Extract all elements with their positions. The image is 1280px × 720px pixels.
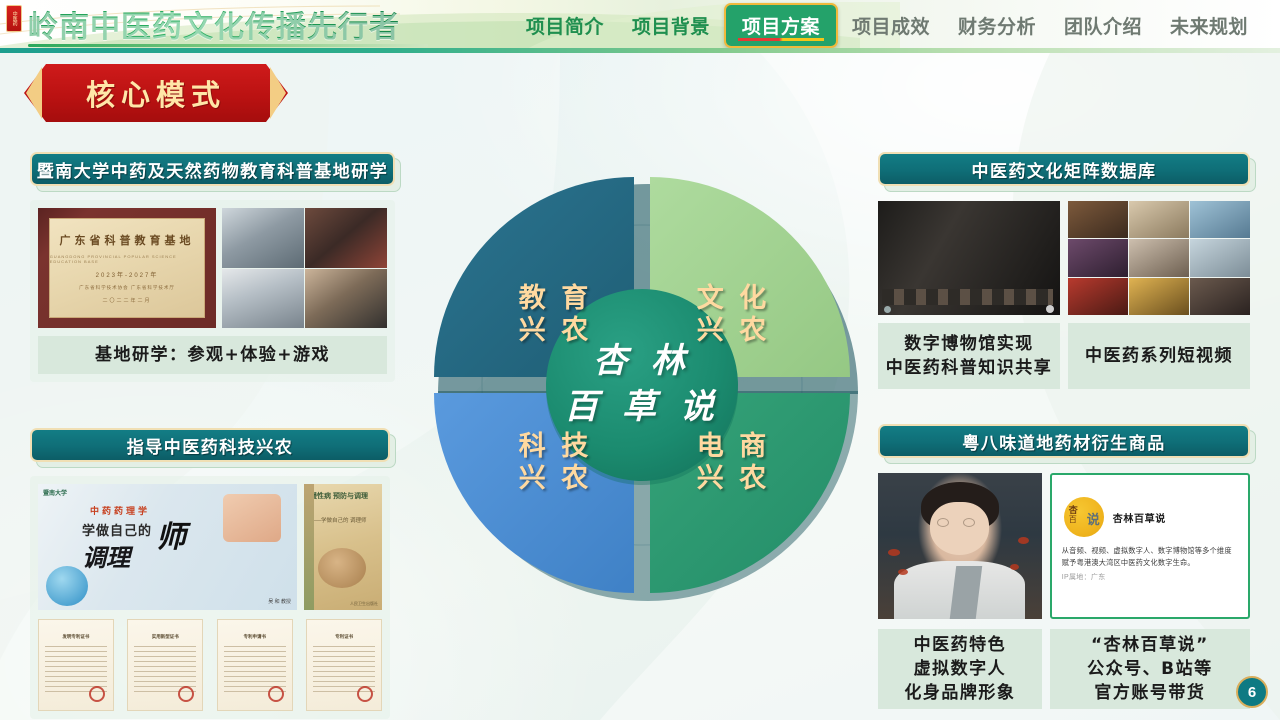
core-model-diagram: 教 育 兴 农 文 化 兴 农 科 技 兴 农 电 商 兴 农 杏 林 百 草 … <box>420 163 864 607</box>
panel-title-matrix-db: 中医药文化矩阵数据库 <box>972 157 1157 182</box>
page-number-badge: 6 <box>1236 676 1268 708</box>
video-thumb-3 <box>1190 201 1250 238</box>
certificate-4: 专利证书 <box>306 619 382 711</box>
museum-display-wall <box>882 211 995 293</box>
photo-activity-4 <box>305 269 387 329</box>
nav-item-future-plan[interactable]: 未来规划 <box>1156 6 1262 45</box>
video-thumb-9 <box>1190 278 1250 315</box>
course-line1-label: 学做自己的 <box>82 520 152 539</box>
video-thumb-6 <box>1190 239 1250 276</box>
panel-guide-tcm-agriculture: 指导中医药科技兴农 暨南大学 中药药理学 学做自己的 调理 师 吴 和 教授 慢… <box>30 428 390 719</box>
avatar-face <box>930 502 989 555</box>
brand-title: 岭南中医药文化传播先行者 <box>28 2 400 46</box>
plaque-line3: 2023年-2027年 <box>96 270 159 279</box>
yuebawei-column-account: 杏 百 说 杏林百草说 从音频、视频、虚拟数字人、数字博物馆等多个维度赋予粤港澳… <box>1050 473 1250 709</box>
caption-official-accounts: “杏林百草说” 公众号、B站等 官方账号带货 <box>1050 629 1250 709</box>
plaque-line1: 广东省科普教育基地 <box>60 232 195 248</box>
video-thumb-5 <box>1129 239 1189 276</box>
certificate-2-title: 实用新型证书 <box>134 634 196 640</box>
nav-item-financial-analysis[interactable]: 财务分析 <box>944 6 1050 45</box>
book-spine <box>304 484 314 610</box>
certificate-2: 实用新型证书 <box>127 619 203 711</box>
course-decor-sphere-icon <box>46 566 88 606</box>
caption-virtual-human: 中医药特色 虚拟数字人 化身品牌形象 <box>878 629 1042 709</box>
panel-header-plate: 指导中医药科技兴农 <box>30 428 390 462</box>
nav-item-project-intro[interactable]: 项目简介 <box>512 6 618 45</box>
certificate-row: 发明专利证书 实用新型证书 专利申请书 专利证书 <box>38 619 382 711</box>
certificate-1-title: 发明专利证书 <box>45 634 107 640</box>
wechat-card-header: 杏 百 说 杏林百草说 <box>1064 497 1238 537</box>
certificate-1-seal-icon <box>89 686 105 702</box>
video-thumb-8 <box>1129 278 1189 315</box>
museum-control-icon <box>884 306 891 313</box>
photo-digital-museum <box>878 201 1060 315</box>
plaque-line5: 二〇二二年二月 <box>102 297 151 304</box>
book-illustration-icon <box>318 548 366 588</box>
photo-activity-2 <box>305 208 387 268</box>
caption-base-study: 基地研学：参观+体验+游戏 <box>38 336 387 374</box>
photo-grid-base-activities <box>222 208 387 328</box>
book-title-label: 慢性病 预防与调理 <box>310 492 376 502</box>
course-family-photo <box>223 494 281 542</box>
diagram-center-circle <box>546 289 738 481</box>
photo-virtual-human-avatar <box>878 473 1042 619</box>
certificate-3-title: 专利申请书 <box>224 634 286 640</box>
panel-header-agriculture: 指导中医药科技兴农 <box>30 428 390 462</box>
plaque-inner: 广东省科普教育基地 GUANGDONG PROVINCIAL POPULAR S… <box>49 218 206 319</box>
museum-fullscreen-icon <box>1046 305 1054 313</box>
video-thumb-4 <box>1068 239 1128 276</box>
panel-body-matrix-db: 数字博物馆实现 中医药科普知识共享 中医药系列短视频 <box>878 201 1250 389</box>
wechat-account-name: 杏林百草说 <box>1113 510 1166 525</box>
video-thumb-7 <box>1068 278 1128 315</box>
panel-title-agriculture: 指导中医药科技兴农 <box>127 433 294 458</box>
book-publisher-label: 人民卫生出版社 <box>350 601 378 607</box>
brand-underline <box>28 44 428 47</box>
wechat-account-description: 从音频、视频、虚拟数字人、数字博物馆等多个维度赋予粤港澳大湾区中医药文化数字生命… <box>1062 545 1238 568</box>
avatar-leaf-1 <box>888 549 900 556</box>
page-title: 核心模式 <box>24 64 288 122</box>
nav-item-project-plan[interactable]: 项目方案 <box>724 3 838 48</box>
panel-header-jinan: 暨南大学中药及天然药物教育科普基地研学 <box>30 152 395 186</box>
panel-body-agriculture: 暨南大学 中药药理学 学做自己的 调理 师 吴 和 教授 慢性病 预防与调理 —… <box>30 476 390 719</box>
panel-header-plate: 粤八味道地药材衍生商品 <box>878 424 1250 458</box>
panel-yuebawei-products: 粤八味道地药材衍生商品 中医药特色 虚拟数字人 化身品牌形象 <box>878 424 1250 709</box>
photo-activity-1 <box>222 208 304 268</box>
certificate-2-seal-icon <box>178 686 194 702</box>
wechat-ip-location: IP属地：广东 <box>1062 572 1238 582</box>
brand-seal-icon: 中医药 <box>6 5 22 32</box>
panel-header-yuebawei: 粤八味道地药材衍生商品 <box>878 424 1250 458</box>
wechat-account-card[interactable]: 杏 百 说 杏林百草说 从音频、视频、虚拟数字人、数字博物馆等多个维度赋予粤港澳… <box>1050 473 1250 619</box>
photo-activity-3 <box>222 269 304 329</box>
avatar-leaf-3 <box>1018 537 1029 544</box>
app-header: 中医药 岭南中医药文化传播先行者 项目简介 项目背景 项目方案 项目成效 财务分… <box>0 0 1280 53</box>
wechat-avatar-icon: 杏 百 说 <box>1064 497 1104 537</box>
book-subtitle-label: ——学做自己的 调理师 <box>310 518 376 526</box>
photo-grid-short-videos <box>1068 201 1250 315</box>
avatar-char-2: 百 <box>1069 514 1077 525</box>
plaque-line4: 广东省科学技术协会 广东省科学技术厅 <box>79 285 175 291</box>
certificate-4-title: 专利证书 <box>313 634 375 640</box>
course-university-label: 暨南大学 <box>43 488 67 497</box>
matrix-db-column-videos: 中医药系列短视频 <box>1068 201 1250 389</box>
certificate-1: 发明专利证书 <box>38 619 114 711</box>
main-nav: 项目简介 项目背景 项目方案 项目成效 财务分析 团队介绍 未来规划 <box>512 0 1262 50</box>
certificate-3-seal-icon <box>268 686 284 702</box>
panel-title-jinan: 暨南大学中药及天然药物教育科普基地研学 <box>37 157 389 182</box>
course-big-char-label: 师 <box>156 512 186 556</box>
photo-book-cover: 慢性病 预防与调理 ——学做自己的 调理师 人民卫生出版社 <box>304 484 382 610</box>
caption-short-videos: 中医药系列短视频 <box>1068 323 1250 389</box>
wechat-card-inner: 杏 百 说 杏林百草说 从音频、视频、虚拟数字人、数字博物馆等多个维度赋予粤港澳… <box>1050 473 1250 619</box>
yuebawei-column-avatar: 中医药特色 虚拟数字人 化身品牌形象 <box>878 473 1042 709</box>
museum-thumbnail-strip <box>882 289 1053 305</box>
photo-science-education-plaque: 广东省科普教育基地 GUANGDONG PROVINCIAL POPULAR S… <box>38 208 216 328</box>
panel-header-plate: 暨南大学中药及天然药物教育科普基地研学 <box>30 152 395 186</box>
section-title-ribbon: 核心模式 <box>24 64 288 122</box>
course-subject-label: 中药药理学 <box>90 504 150 517</box>
course-line2-label: 调理 <box>82 538 130 573</box>
photo-course-cover: 暨南大学 中药药理学 学做自己的 调理 师 吴 和 教授 <box>38 484 297 610</box>
panel-tcm-culture-matrix-db: 中医药文化矩阵数据库 数字博物馆实现 中医药科普知识共享 <box>878 152 1250 389</box>
nav-item-team-intro[interactable]: 团队介绍 <box>1050 6 1156 45</box>
header-divider <box>0 48 1280 53</box>
panel-title-yuebawei: 粤八味道地药材衍生商品 <box>962 429 1166 454</box>
plaque-line2: GUANGDONG PROVINCIAL POPULAR SCIENCE EDU… <box>50 254 205 264</box>
panel-body-jinan: 广东省科普教育基地 GUANGDONG PROVINCIAL POPULAR S… <box>30 200 395 382</box>
course-author-label: 吴 和 教授 <box>268 598 291 605</box>
caption-digital-museum: 数字博物馆实现 中医药科普知识共享 <box>878 323 1060 389</box>
avatar-char-3: 说 <box>1087 509 1100 528</box>
panel-jinan-university-base: 暨南大学中药及天然药物教育科普基地研学 广东省科普教育基地 GUANGDONG … <box>30 152 395 382</box>
nav-item-project-results[interactable]: 项目成效 <box>838 6 944 45</box>
avatar-leaf-4 <box>1010 564 1019 570</box>
nav-item-project-background[interactable]: 项目背景 <box>618 6 724 45</box>
video-thumb-1 <box>1068 201 1128 238</box>
brand-seal-text: 中医药 <box>11 11 16 26</box>
panel-body-yuebawei: 中医药特色 虚拟数字人 化身品牌形象 杏 百 说 杏林百草说 从音频、视频、虚拟… <box>878 473 1250 709</box>
certificate-3: 专利申请书 <box>217 619 293 711</box>
matrix-db-column-museum: 数字博物馆实现 中医药科普知识共享 <box>878 201 1060 389</box>
panel-header-plate: 中医药文化矩阵数据库 <box>878 152 1250 186</box>
certificate-4-seal-icon <box>357 686 373 702</box>
panel-header-matrix-db: 中医药文化矩阵数据库 <box>878 152 1250 186</box>
video-thumb-2 <box>1129 201 1189 238</box>
diagram-svg <box>420 163 864 607</box>
